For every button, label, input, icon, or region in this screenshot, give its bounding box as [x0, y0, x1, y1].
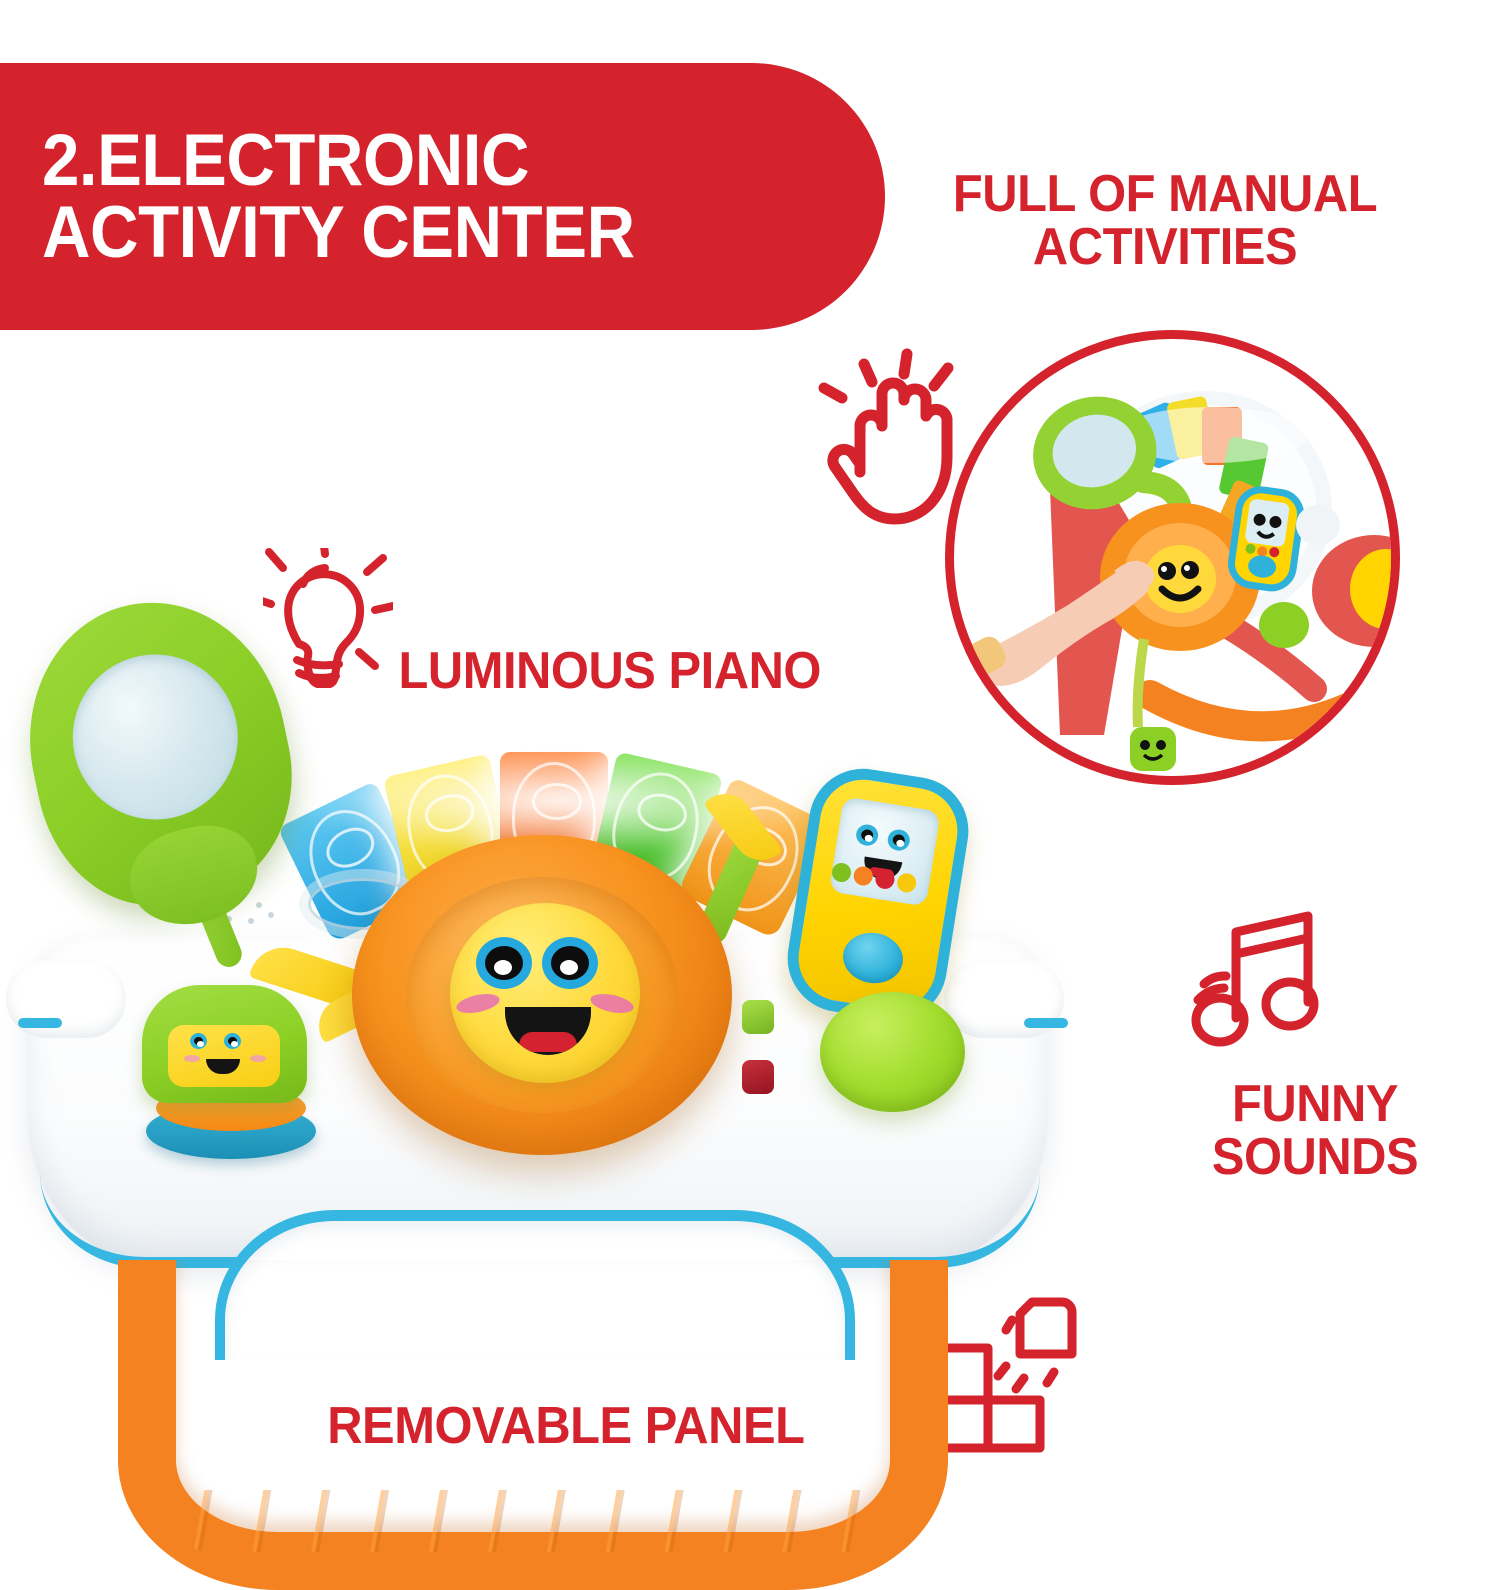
small-red-button[interactable] — [742, 1060, 774, 1094]
orange-steering-wheel[interactable] — [352, 835, 732, 1155]
bead-orange — [852, 865, 874, 887]
roller-eye-right — [224, 1033, 241, 1049]
product-clip-right — [1024, 1018, 1068, 1028]
green-dome-button[interactable] — [820, 992, 965, 1112]
bead-yellow — [896, 872, 918, 894]
smiley-eye-right — [542, 937, 598, 989]
header-banner: 2.ELECTRONIC ACTIVITY CENTER — [0, 63, 885, 330]
smiley-face-center[interactable] — [450, 903, 640, 1083]
feature-label-manual-activities: FULL OF MANUAL ACTIVITIES — [921, 168, 1410, 274]
caterpillar-roller[interactable] — [128, 985, 328, 1160]
smiley-eye-left — [476, 937, 532, 989]
infographic-stage: 2.ELECTRONIC ACTIVITY CENTER FULL OF MAN… — [0, 0, 1500, 1500]
roller-body — [142, 985, 307, 1103]
handle-grip-grooves — [178, 1490, 890, 1552]
mirror-glass — [57, 639, 253, 835]
phone-face-eye-left — [855, 823, 880, 847]
roller-cheek-left — [184, 1055, 200, 1062]
roller-face — [168, 1025, 280, 1087]
bead-green — [831, 862, 853, 884]
page-title: 2.ELECTRONIC ACTIVITY CENTER — [42, 125, 635, 268]
feature-label-funny-sounds: FUNNY SOUNDS — [1160, 1078, 1470, 1184]
smiley-cheek-right — [589, 991, 636, 1017]
music-note-icon — [1190, 910, 1345, 1060]
smiley-mouth — [505, 1007, 591, 1055]
roller-mouth — [206, 1059, 240, 1074]
roller-cheek-right — [250, 1055, 266, 1062]
product-photo-activity-center — [0, 560, 1110, 1440]
phone-button[interactable] — [839, 929, 906, 988]
small-green-button[interactable] — [742, 1000, 774, 1034]
bead-red — [874, 869, 896, 891]
smiley-cheek-left — [455, 991, 502, 1017]
phone-face-eye-right — [886, 828, 911, 852]
product-clip-left — [18, 1018, 62, 1028]
roller-eye-left — [190, 1033, 207, 1049]
